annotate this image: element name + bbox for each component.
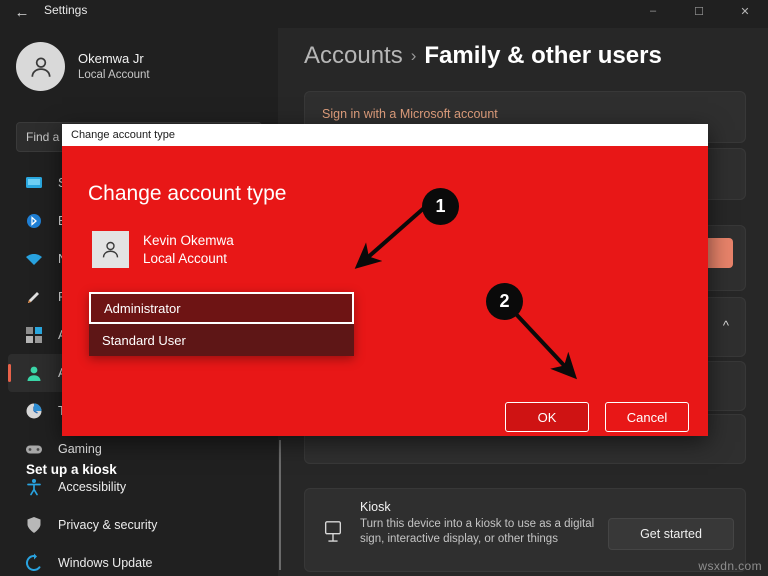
settings-window: ← Settings – ☐ ✕ Okemwa Jr Local Account…	[0, 0, 768, 576]
section-heading-kiosk: Set up a kiosk	[26, 462, 117, 477]
watermark: wsxdn.com	[698, 559, 762, 573]
dialog-user-name: Kevin Okemwa	[143, 232, 234, 250]
system-icon	[24, 173, 44, 193]
breadcrumb: Accounts›Family & other users	[304, 42, 662, 70]
user-avatar-icon	[16, 42, 65, 91]
cancel-button[interactable]: Cancel	[605, 402, 689, 432]
sidebar-item-label: Accessibility	[58, 480, 126, 494]
breadcrumb-current: Family & other users	[424, 42, 661, 69]
back-arrow-icon[interactable]: ←	[10, 2, 34, 24]
search-value: Find a	[26, 130, 59, 144]
chevron-up-icon[interactable]: ^	[723, 318, 729, 333]
shield-icon	[24, 515, 44, 535]
annotation-badge-1: 1	[422, 188, 459, 225]
kiosk-description: Turn this device into a kiosk to use as …	[360, 517, 595, 547]
update-icon	[24, 553, 44, 573]
accounts-icon	[24, 363, 44, 383]
sidebar-profile[interactable]: Okemwa Jr Local Account	[16, 42, 150, 91]
minimize-button[interactable]: –	[630, 0, 676, 22]
sidebar-item-windows-update[interactable]: Windows Update	[8, 544, 270, 576]
dialog-heading: Change account type	[88, 182, 286, 206]
change-account-type-dialog: Change account type Change account type …	[62, 124, 708, 436]
microsoft-account-link[interactable]: Sign in with a Microsoft account	[322, 107, 498, 121]
kiosk-title: Kiosk	[360, 500, 391, 514]
account-type-dropdown[interactable]: AdministratorStandard User	[89, 292, 354, 356]
dialog-body: Change account type Kevin Okemwa Local A…	[62, 146, 708, 436]
dialog-user-subtitle: Local Account	[143, 250, 234, 268]
get-started-button[interactable]: Get started	[608, 518, 734, 550]
dropdown-option-administrator[interactable]: Administrator	[89, 292, 354, 324]
dialog-titlebar: Change account type	[62, 124, 708, 146]
window-titlebar: ← Settings – ☐ ✕	[0, 0, 768, 28]
close-button[interactable]: ✕	[722, 0, 768, 22]
profile-subtitle: Local Account	[78, 67, 150, 83]
sidebar-item-label: Windows Update	[58, 556, 153, 570]
kiosk-icon	[322, 520, 344, 546]
profile-name: Okemwa Jr	[78, 50, 150, 67]
ok-button[interactable]: OK	[505, 402, 589, 432]
bluetooth-icon	[24, 211, 44, 231]
breadcrumb-separator-icon: ›	[403, 46, 425, 65]
maximize-button[interactable]: ☐	[676, 0, 722, 22]
content-scrollbar[interactable]	[279, 440, 281, 570]
accessibility-icon	[24, 477, 44, 497]
apps-icon	[24, 325, 44, 345]
clock-icon	[24, 401, 44, 421]
sidebar-item-privacy-security[interactable]: Privacy & security	[8, 506, 270, 544]
network-wifi-icon	[24, 249, 44, 269]
sidebar-item-label: Gaming	[58, 442, 102, 456]
dropdown-option-standard-user[interactable]: Standard User	[89, 324, 354, 356]
dialog-button-row: OK Cancel	[505, 402, 689, 432]
gamepad-icon	[24, 439, 44, 459]
app-title: Settings	[44, 3, 87, 17]
user-avatar-icon	[92, 231, 129, 268]
dialog-user-row: Kevin Okemwa Local Account	[92, 231, 234, 268]
annotation-badge-2: 2	[486, 283, 523, 320]
sidebar-item-label: Privacy & security	[58, 518, 157, 532]
window-controls: – ☐ ✕	[630, 0, 768, 22]
breadcrumb-parent[interactable]: Accounts	[304, 42, 403, 69]
paintbrush-icon	[24, 287, 44, 307]
